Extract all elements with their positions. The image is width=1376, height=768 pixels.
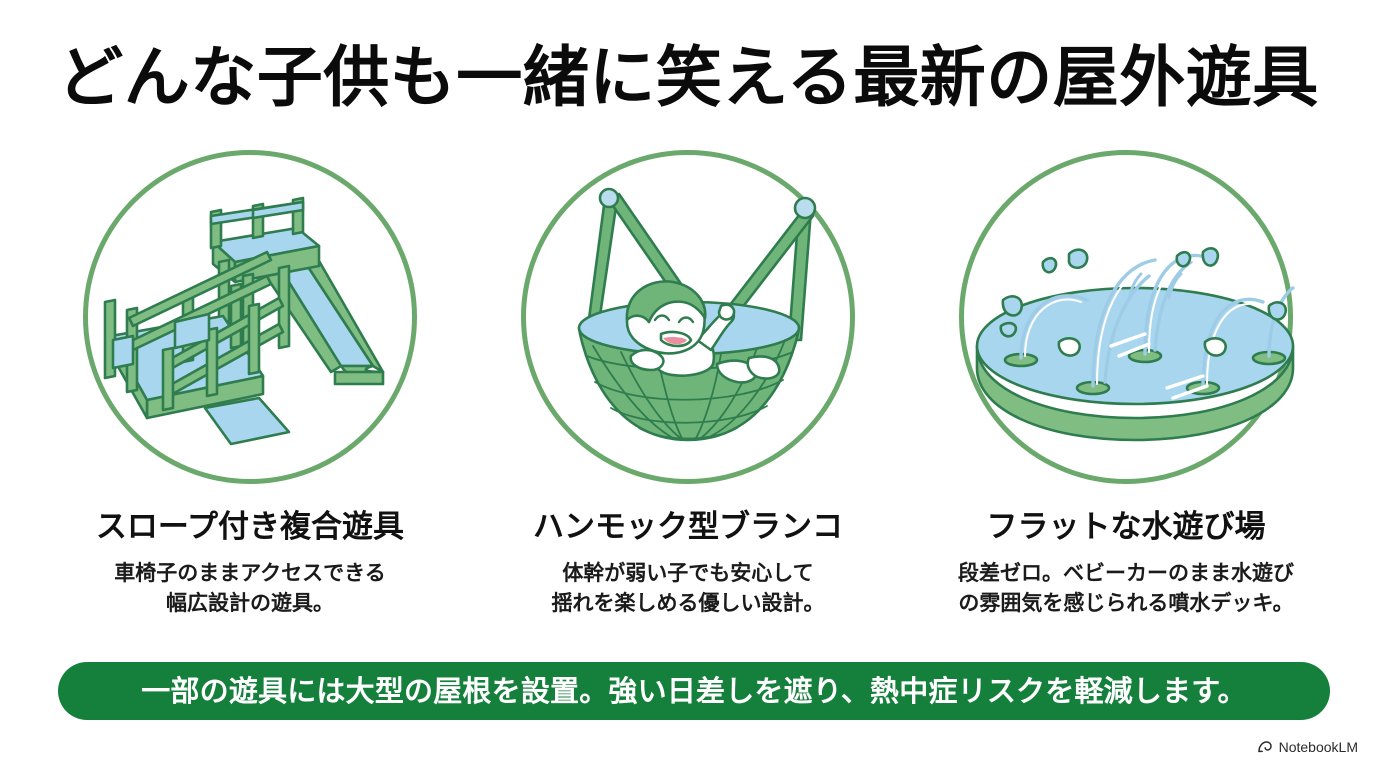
notebooklm-logo-icon bbox=[1257, 739, 1273, 755]
card-title-3: フラットな水遊び場 bbox=[987, 508, 1266, 546]
flat-splash-pad-fountain-deck-icon bbox=[959, 150, 1293, 484]
feature-card-1: スロープ付き複合遊具 車椅子のままアクセスできる 幅広設計の遊具。 bbox=[56, 150, 444, 640]
illustration-circle-1 bbox=[83, 150, 417, 484]
card-title-1: スロープ付き複合遊具 bbox=[96, 508, 404, 546]
card-description-line: 揺れを楽しめる優しい設計。 bbox=[552, 588, 825, 618]
page-title: どんな子供も一緒に笑える最新の屋外遊具 bbox=[0, 38, 1376, 118]
card-title-2: ハンモック型ブランコ bbox=[533, 508, 843, 546]
card-description-2: 体幹が弱い子でも安心して 揺れを楽しめる優しい設計。 bbox=[552, 558, 825, 618]
feature-card-3: フラットな水遊び場 段差ゼロ。ベビーカーのまま水遊び の雰囲気を感じられる噴水デ… bbox=[932, 150, 1320, 640]
card-description-line: の雰囲気を感じられる噴水デッキ。 bbox=[958, 588, 1294, 618]
footer-banner-text: 一部の遊具には大型の屋根を設置。強い日差しを遮り、熱中症リスクを軽減します。 bbox=[141, 674, 1247, 708]
card-description-line: 段差ゼロ。ベビーカーのまま水遊び bbox=[958, 558, 1294, 588]
card-description-line: 幅広設計の遊具。 bbox=[114, 588, 386, 618]
illustration-circle-2 bbox=[521, 150, 855, 484]
feature-card-2: ハンモック型ブランコ 体幹が弱い子でも安心して 揺れを楽しめる優しい設計。 bbox=[494, 150, 882, 640]
slide-canvas: どんな子供も一緒に笑える最新の屋外遊具 bbox=[0, 0, 1376, 768]
hammock-net-swing-with-child-icon bbox=[521, 150, 855, 484]
watermark-label: NotebookLM bbox=[1279, 738, 1358, 756]
card-description-line: 体幹が弱い子でも安心して bbox=[552, 558, 825, 588]
watermark: NotebookLM bbox=[1257, 738, 1358, 756]
accessible-ramp-slide-structure-icon bbox=[83, 150, 417, 484]
illustration-circle-3 bbox=[959, 150, 1293, 484]
card-description-3: 段差ゼロ。ベビーカーのまま水遊び の雰囲気を感じられる噴水デッキ。 bbox=[958, 558, 1294, 618]
footer-banner: 一部の遊具には大型の屋根を設置。強い日差しを遮り、熱中症リスクを軽減します。 bbox=[58, 662, 1330, 720]
feature-card-row: スロープ付き複合遊具 車椅子のままアクセスできる 幅広設計の遊具。 bbox=[0, 150, 1376, 640]
card-description-1: 車椅子のままアクセスできる 幅広設計の遊具。 bbox=[114, 558, 386, 618]
card-description-line: 車椅子のままアクセスできる bbox=[114, 558, 386, 588]
